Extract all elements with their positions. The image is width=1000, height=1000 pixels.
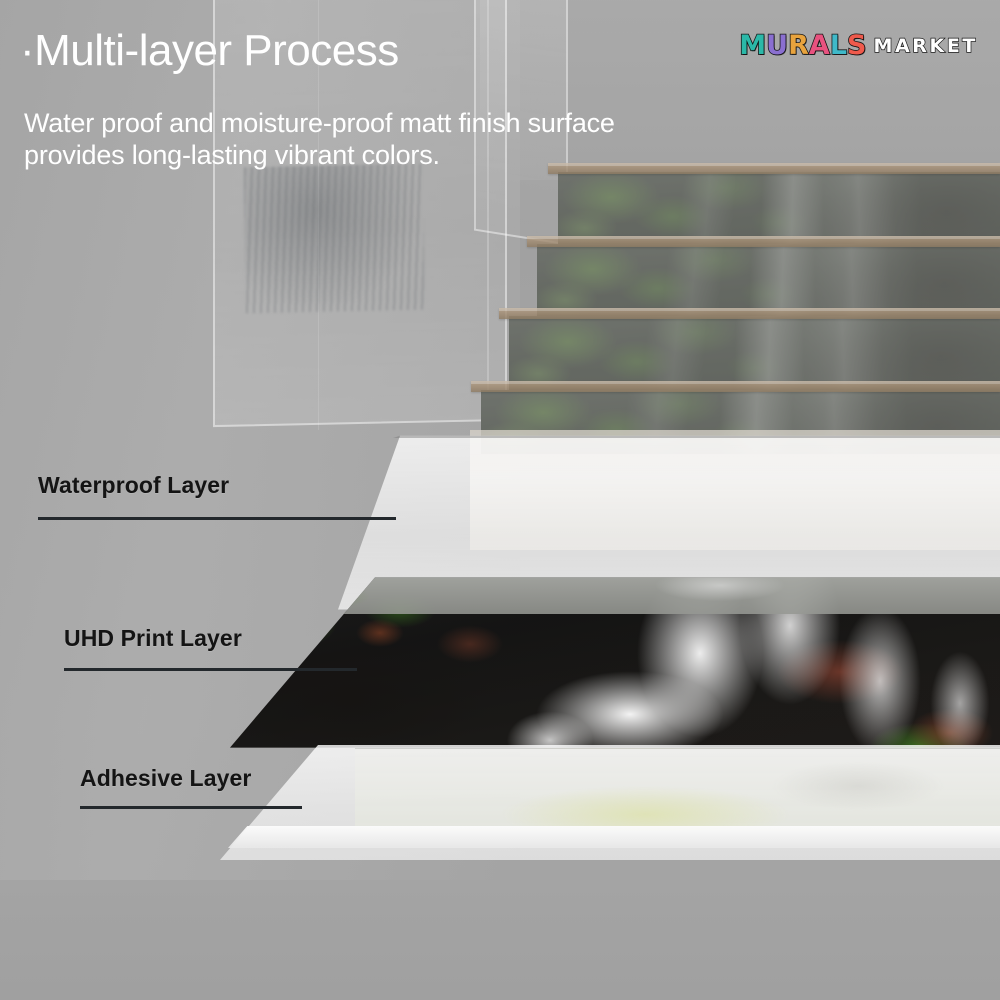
page-title: ·Multi-layer Process (20, 26, 399, 76)
waterproof-layer-rule (38, 517, 396, 520)
logo-letter-a-3: A (809, 30, 830, 61)
adhesive-layer-rule (80, 806, 302, 809)
riser-mural-3 (509, 316, 1000, 390)
page-subtitle: Water proof and moisture-proof matt fini… (24, 108, 615, 172)
waterproof-layer-label: Waterproof Layer (38, 472, 229, 499)
logo-letter-r-2: R (788, 30, 809, 61)
stair-tread-3 (499, 308, 1000, 319)
tread-highlight (471, 381, 1000, 384)
logo-letter-l-4: L (830, 30, 847, 61)
tread-highlight (527, 236, 1000, 239)
uhd-print-layer-label-text: UHD Print Layer (64, 625, 242, 652)
stair-riser-3 (509, 316, 1000, 390)
stair-tread-4 (471, 381, 1000, 392)
stair-riser-2 (537, 244, 1000, 316)
promo-graphic: Waterproof Layer UHD Print Layer Adhesiv… (0, 0, 1000, 1000)
adhesive-layer-inner-panel (355, 748, 1000, 831)
adhesive-layer-label: Adhesive Layer (80, 765, 251, 792)
tread-highlight (499, 308, 1000, 311)
stair-tread-1 (548, 163, 1000, 174)
logo-murals-wordmark: MURALS (739, 30, 866, 61)
brand-logo[interactable]: MURALS MARKET (739, 30, 978, 61)
riser-mural-2 (537, 244, 1000, 316)
stair-tread-2 (527, 236, 1000, 247)
stair-riser-1 (558, 172, 1000, 244)
adhesive-layer-label-text: Adhesive Layer (80, 765, 251, 792)
logo-market-wordmark: MARKET (873, 35, 978, 57)
waterproof-layer-label-text: Waterproof Layer (38, 472, 229, 499)
adhesive-layer-front-lip (228, 826, 1000, 848)
logo-letter-m-0: M (739, 30, 766, 61)
uhd-print-layer-label: UHD Print Layer (64, 625, 242, 652)
riser-mural-1 (558, 172, 1000, 244)
uhd-print-layer-rule (64, 668, 357, 671)
tread-highlight (548, 163, 1000, 166)
logo-letter-u-1: U (766, 30, 788, 61)
logo-letter-s-5: S (847, 30, 866, 61)
